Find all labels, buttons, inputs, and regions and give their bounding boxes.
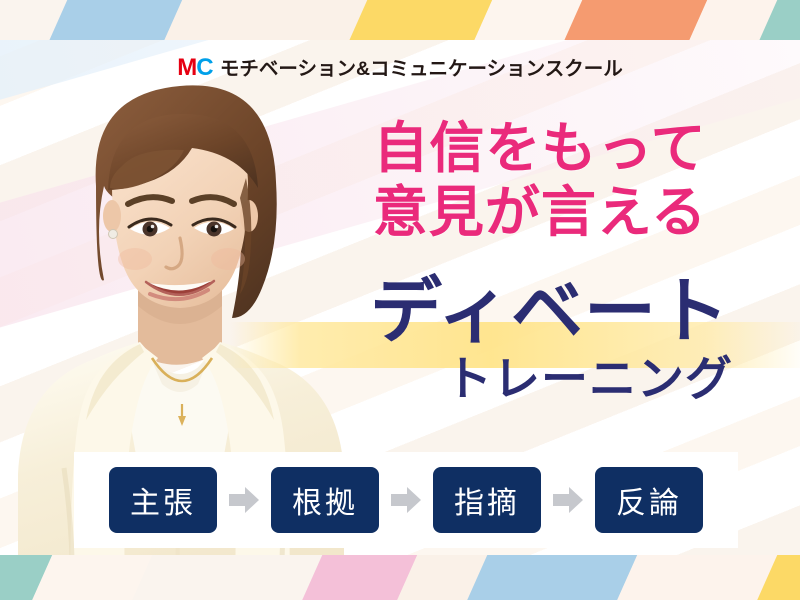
arrow-right-icon	[217, 487, 271, 513]
arrow-right-icon	[541, 487, 595, 513]
decor-stripes-top	[0, 0, 800, 40]
headline-block: 自信をもって 意見が言える	[330, 116, 750, 245]
decor-stripes-bottom	[0, 555, 800, 600]
headline-line-2: 意見が言える	[330, 180, 750, 244]
main-title-block: ディベート トレーニング	[300, 276, 800, 403]
flow-step-4[interactable]: 反論	[595, 467, 703, 533]
headline-line-1: 自信をもって	[330, 116, 750, 180]
debate-flow-panel: 主張根拠指摘反論	[74, 452, 738, 548]
main-title-primary: ディベート	[300, 276, 800, 348]
arrow-right-icon	[379, 487, 433, 513]
poster-canvas: MC モチベーション&コミュニケーションスクール 自信をもって 意見が言える デ…	[0, 0, 800, 600]
flow-step-2[interactable]: 根拠	[271, 467, 379, 533]
brand-logo: MC モチベーション&コミュニケーションスクール	[0, 52, 800, 82]
flow-step-label: 主張	[130, 478, 196, 522]
logo-letter-c: C	[196, 54, 214, 81]
flow-step-label: 指摘	[454, 478, 520, 522]
flow-step-label: 根拠	[292, 478, 358, 522]
debate-flow-steps: 主張根拠指摘反論	[109, 467, 703, 533]
flow-step-1[interactable]: 主張	[109, 467, 217, 533]
logo-school-name: モチベーション&コミュニケーションスクール	[220, 58, 623, 80]
flow-step-label: 反論	[616, 478, 682, 522]
main-title-secondary: トレーニング	[300, 354, 800, 403]
logo-letter-m: M	[177, 54, 196, 81]
flow-step-3[interactable]: 指摘	[433, 467, 541, 533]
